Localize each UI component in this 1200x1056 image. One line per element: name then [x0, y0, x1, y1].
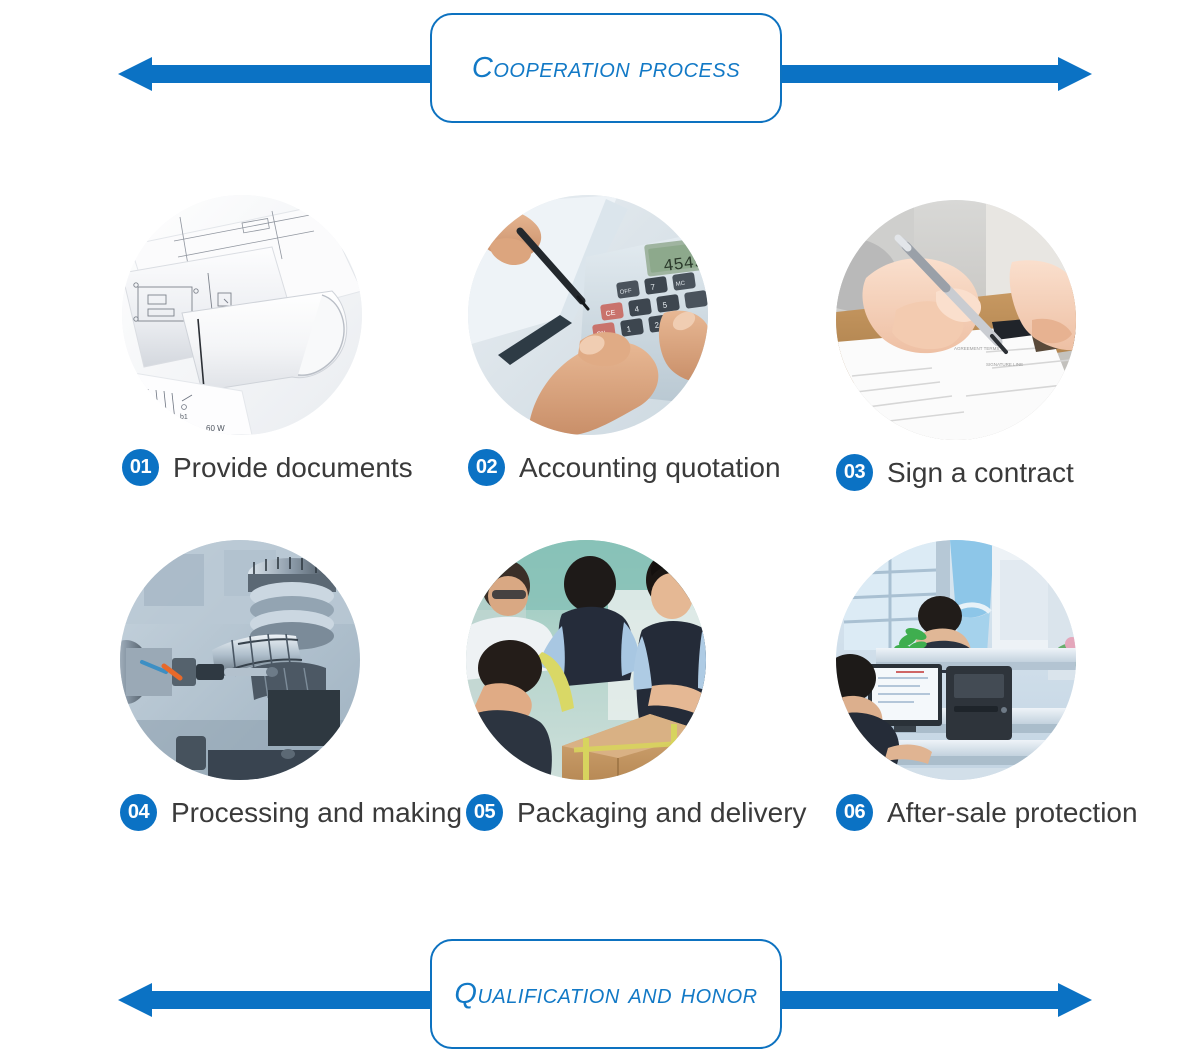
svg-text:SIGNATURE LINE: SIGNATURE LINE [986, 362, 1023, 367]
step-label-05: Packaging and delivery [517, 797, 807, 829]
step-label-03: Sign a contract [887, 457, 1074, 489]
step-number-badge-05: 05 [466, 794, 503, 831]
arrow-right-icon [780, 983, 1092, 1017]
workers-packaging-boxes-photo [466, 540, 706, 780]
step-card-05[interactable]: 05 Packaging and delivery [466, 540, 866, 831]
step-card-03[interactable]: AGREEMENT TERMS SIGNATURE LINE 03 [836, 200, 1200, 491]
svg-text:60 W: 60 W [206, 424, 225, 433]
step-label-row-04: 04 Processing and making [120, 794, 520, 831]
step-card-04[interactable]: 04 Processing and making [120, 540, 520, 831]
svg-text:b1: b1 [180, 414, 188, 421]
step-label-row-02: 02 Accounting quotation [468, 449, 868, 486]
step-number-badge-04: 04 [120, 794, 157, 831]
step-card-02[interactable]: 4549 OFF 7 MC CE 4 5 O [468, 195, 868, 486]
step-number-badge-06: 06 [836, 794, 873, 831]
step-label-row-01: 01 Provide documents [122, 449, 522, 486]
rolled-blueprint-drawings-photo: 2 PE L b1 60 W [122, 195, 362, 435]
step-label-row-05: 05 Packaging and delivery [466, 794, 866, 831]
footer-banner-title: Qualification and honor [454, 978, 757, 1011]
step-label-row-03: 03 Sign a contract [836, 454, 1200, 491]
svg-text:CE: CE [605, 310, 616, 318]
step-label-row-06: 06 After-sale protection [836, 794, 1200, 831]
signing-contract-photo: AGREEMENT TERMS SIGNATURE LINE [836, 200, 1076, 440]
hands-using-calculator-photo: 4549 OFF 7 MC CE 4 5 O [468, 195, 708, 435]
step-label-02: Accounting quotation [519, 452, 781, 484]
step-number-badge-03: 03 [836, 454, 873, 491]
step-card-06[interactable]: 06 After-sale protection [836, 540, 1200, 831]
header-banner: Cooperation process [0, 0, 1200, 130]
step-number-badge-02: 02 [468, 449, 505, 486]
arrow-left-icon [118, 983, 448, 1017]
header-banner-title: Cooperation process [472, 52, 740, 85]
step-card-01[interactable]: 2 PE L b1 60 W 01 Provi [122, 195, 522, 486]
arrow-left-icon [118, 57, 448, 91]
step-number-badge-01: 01 [122, 449, 159, 486]
step-label-04: Processing and making [171, 797, 462, 829]
step-label-06: After-sale protection [887, 797, 1138, 829]
step-label-01: Provide documents [173, 452, 413, 484]
footer-banner-box: Qualification and honor [430, 939, 782, 1049]
svg-text:AGREEMENT TERMS: AGREEMENT TERMS [954, 346, 999, 351]
arrow-right-icon [780, 57, 1092, 91]
footer-banner: Qualification and honor [0, 926, 1200, 1056]
cnc-machining-photo [120, 540, 360, 780]
header-banner-box: Cooperation process [430, 13, 782, 123]
office-support-staff-photo [836, 540, 1076, 780]
svg-text:L: L [134, 386, 138, 393]
